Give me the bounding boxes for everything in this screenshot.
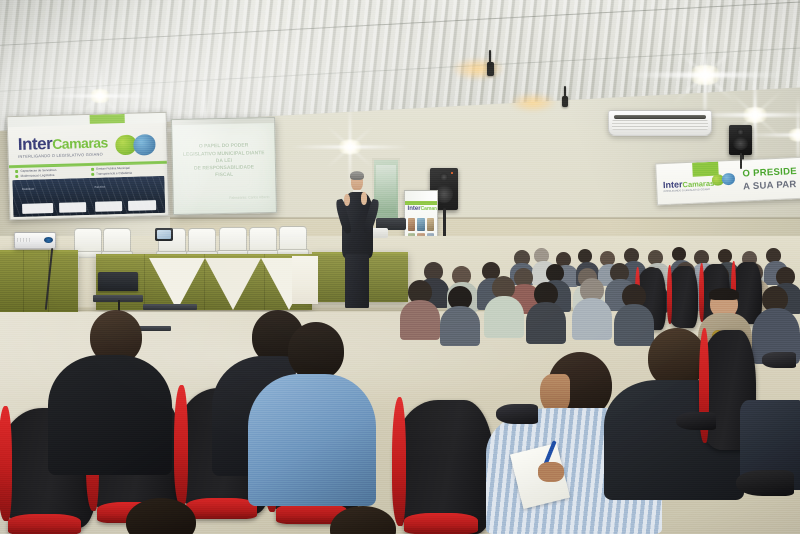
chair-seat-pad: [186, 498, 257, 519]
speaker-tweeter: [737, 129, 743, 134]
wall-banner-right: InterCamaras INTERLIGANDO O LEGISLATIVO …: [655, 157, 800, 206]
chair-red-rim: [699, 263, 704, 323]
ceiling-lamp: [487, 62, 494, 76]
chair-back: [279, 226, 307, 251]
banner-logo-inter: Inter: [18, 134, 53, 154]
audience-sandal: [762, 352, 796, 368]
banner-sponsor-logo: [22, 203, 53, 213]
rollup-logo: InterCamaras: [408, 206, 438, 212]
wall-speaker: [729, 125, 752, 155]
audience-head: [672, 247, 686, 261]
ac-intake: [614, 115, 706, 119]
projector-vent: [17, 238, 31, 243]
audience-head: [648, 328, 706, 388]
audience-chair[interactable]: [668, 266, 698, 328]
chair-red-rim: [174, 385, 187, 506]
speaker-cable: [740, 153, 742, 169]
screen-glare: [172, 118, 276, 214]
projection-screen: O PAPEL DO PODER LEGISLATIVO MUNICIPAL D…: [171, 117, 277, 215]
speaker-tweeter: [440, 173, 449, 181]
audience-body: [526, 302, 566, 344]
banner-globe-icon: [133, 135, 156, 156]
table-tablet[interactable]: [155, 228, 173, 241]
audience-body: [400, 300, 440, 340]
audience-head: [578, 249, 592, 263]
projector-lens: [44, 237, 53, 243]
ceiling-lamp-glow: [510, 93, 556, 112]
rollup-photo: [427, 218, 435, 231]
banner-sponsor-logo: [59, 203, 87, 213]
banner-bullet-item: Transparencia e Cidadania: [91, 170, 161, 176]
presenter-left-hand: [344, 194, 350, 206]
split-air-conditioner: [608, 110, 712, 136]
tablet-screen: [157, 230, 171, 240]
banner-right-globe-icon: [722, 173, 736, 186]
chair-back: [188, 228, 216, 253]
speaker-power-led: [451, 172, 453, 174]
ac-grille: [612, 120, 708, 130]
note-taker-hand: [538, 462, 564, 482]
chair-back: [219, 227, 247, 252]
chair-back: [249, 227, 277, 252]
audience-body: [484, 296, 524, 338]
ceiling-lamp-glow: [452, 58, 504, 80]
audience-body: [614, 304, 654, 346]
rollup-logo-camaras: Camaras: [421, 206, 438, 212]
banner-headline-line2: A SUA PAR: [743, 179, 797, 192]
chair-back: [668, 266, 698, 328]
presenter-trousers: [345, 254, 369, 308]
audience-head: [288, 322, 344, 380]
audience-chair[interactable]: [394, 400, 494, 534]
banner-sponsor-logo: [128, 201, 156, 211]
banner-headline-line1: O PRESIDE: [742, 166, 797, 179]
presenter-right-hand: [361, 192, 367, 204]
presenter: [330, 172, 384, 308]
banner-green-accent: [90, 114, 125, 124]
audience-head: [718, 249, 732, 263]
chair-red-rim: [0, 406, 12, 521]
auditorium-photo: InterCamaras INTERLIGANDO O LEGISLATIVO …: [0, 0, 800, 534]
banner-right-logo-inter: Inter: [663, 179, 683, 190]
chair-red-rim: [667, 265, 672, 325]
table-top-edge: [0, 250, 78, 256]
table-drape-triangle: [205, 258, 261, 310]
chair-seat-pad: [8, 514, 81, 534]
laptop[interactable]: [148, 298, 192, 310]
audience-shoe: [736, 470, 794, 496]
chair-red-rim: [392, 397, 406, 526]
rollup-photo-row: [408, 218, 435, 231]
laptop-base: [143, 304, 198, 310]
rollup-header: [405, 191, 437, 201]
chair-seat-pad: [404, 513, 478, 534]
banner-top-strip: [8, 113, 166, 128]
laptop[interactable]: [98, 272, 138, 302]
table-drape-white: [292, 256, 318, 304]
chair-back: [74, 228, 102, 253]
audience-body-blue-shirt: [248, 374, 376, 506]
ceiling-lamp-arm: [489, 50, 491, 64]
banner-right-logo: InterCamaras INTERLIGANDO O LEGISLATIVO …: [663, 179, 715, 193]
chair-back: [103, 228, 131, 253]
audience-body: [572, 298, 612, 340]
banner-photo-strip: Realizacao Parceiros: [13, 176, 166, 217]
side-table-olive: [0, 250, 78, 312]
wall-banner-left: InterCamaras INTERLIGANDO O LEGISLATIVO …: [7, 112, 170, 220]
rollup-logo-inter: Inter: [408, 206, 421, 212]
officer-hair: [709, 288, 739, 300]
rollup-green-bar: [405, 201, 437, 204]
banner-logo-camaras: Camaras: [52, 135, 108, 153]
rollup-photo: [417, 218, 425, 231]
banner-sponsor-label: Parceiros: [95, 185, 106, 188]
presenter-hair: [350, 171, 364, 181]
audience-body-suit: [48, 355, 172, 475]
audience-body: [440, 306, 480, 346]
ceiling-lamp-arm: [564, 86, 566, 97]
data-projector: [14, 232, 56, 249]
cloth-fold: [23, 250, 24, 312]
laptop-lid: [98, 272, 138, 291]
speaker-driver: [733, 137, 748, 150]
cloth-fold: [144, 254, 145, 310]
audience-shoe: [676, 412, 716, 430]
banner-sponsor-logo: [95, 202, 123, 212]
banner-bullet-item: Modernizacao Legislativa: [16, 172, 86, 178]
banner-bullet-text: Modernizacao Legislativa: [21, 173, 55, 178]
banner-bullet-text: Transparencia e Cidadania: [96, 171, 132, 176]
banner-sponsor-label: Realizacao: [22, 187, 34, 190]
audience-shoe: [496, 404, 538, 424]
rollup-photo: [408, 218, 416, 231]
ceiling-lamp: [562, 96, 568, 107]
